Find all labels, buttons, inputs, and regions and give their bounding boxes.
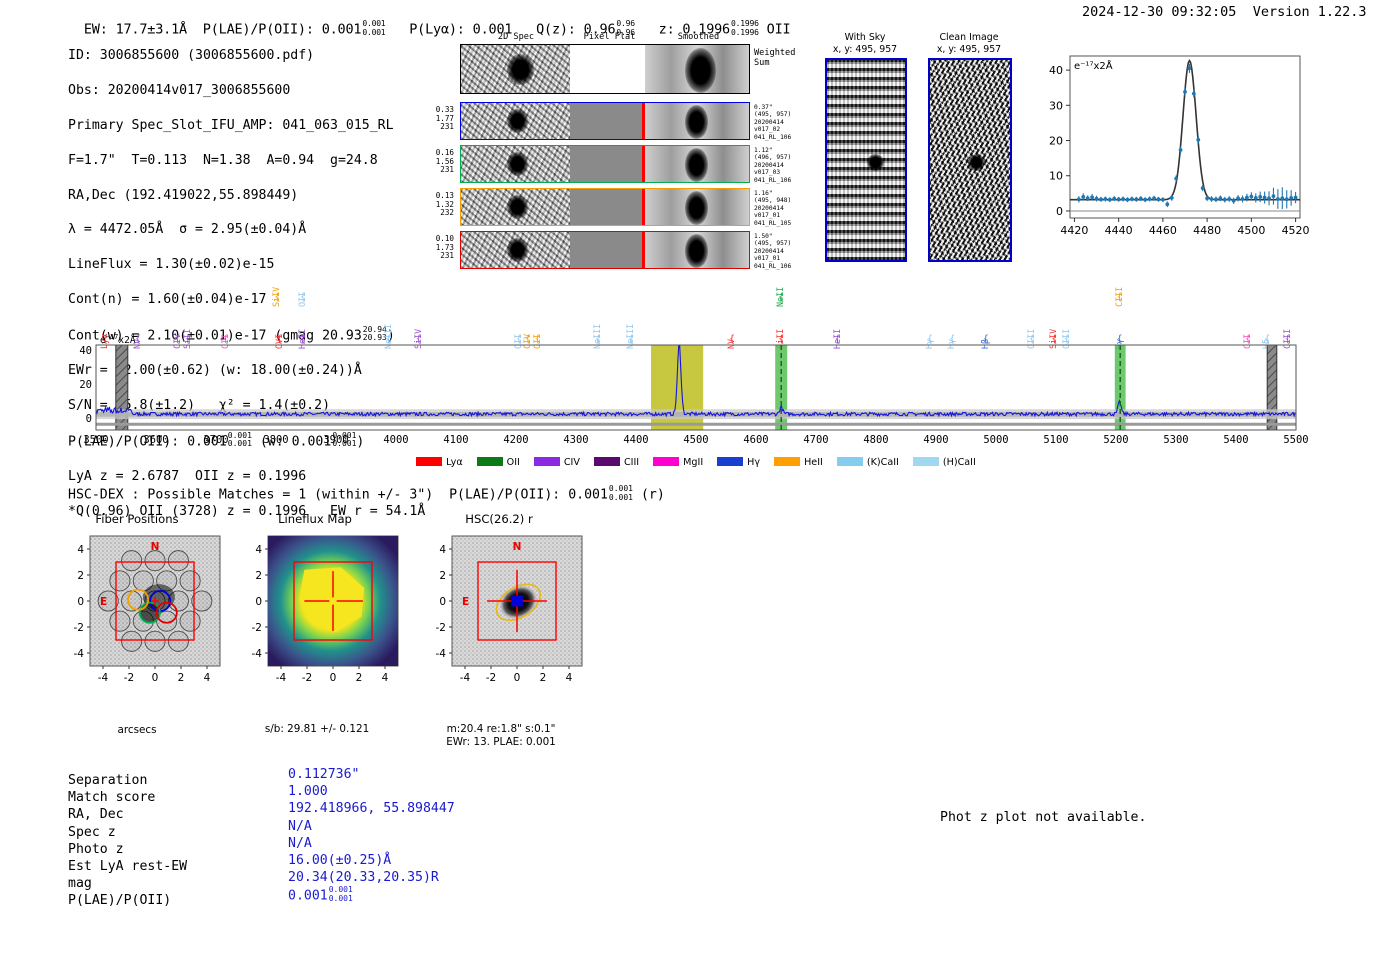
- svg-text:0: 0: [330, 672, 337, 684]
- spectrum-line-brace: {: [416, 336, 422, 344]
- match-table-label: Separation: [68, 772, 187, 789]
- spec2d-cell-pixelflat: [570, 232, 645, 268]
- svg-text:2: 2: [439, 570, 446, 582]
- svg-text:2: 2: [178, 672, 185, 684]
- svg-text:20: 20: [1049, 135, 1063, 148]
- spectrum-xtick: 4400: [616, 434, 656, 446]
- legend-label: Lyα: [446, 457, 462, 468]
- lineflux-map-title: Lineflux Map: [240, 512, 390, 526]
- match-table-value: 20.34(20.33,20.35)R: [288, 869, 455, 886]
- spec2d-cell-pixelflat: [570, 146, 645, 182]
- spec2d-row-fiber-4[interactable]: [460, 231, 750, 269]
- match-table-value: 192.418966, 55.898447: [288, 800, 455, 817]
- spectrum-xtick: 4200: [496, 434, 536, 446]
- spec2d-left-labels: 0.131.32232: [420, 192, 454, 218]
- svg-text:0: 0: [1056, 205, 1063, 218]
- legend-swatch: [477, 457, 503, 466]
- dex-headline: HSC-DEX : Possible Matches = 1 (within +…: [68, 485, 665, 502]
- spectrum-line-brace: {: [1285, 336, 1291, 344]
- spectrum-line-brace: {: [983, 336, 989, 344]
- spectrum-ytick: 20: [70, 379, 92, 391]
- match-table-labels: SeparationMatch scoreRA, DecSpec zPhoto …: [68, 772, 187, 910]
- spectrum-ytick: 40: [70, 345, 92, 357]
- match-table-label: mag: [68, 875, 187, 892]
- legend-label: OII: [507, 457, 520, 468]
- spec2d-cell-2dspec: [461, 45, 570, 93]
- spec2d-cell-smoothed: [645, 146, 749, 182]
- legend-label: Hγ: [747, 457, 760, 468]
- spectrum-line-brace: {: [927, 336, 933, 344]
- header-timestamp-version: 2024-12-30 09:32:05 Version 1.22.3: [1082, 4, 1367, 20]
- spectrum-line-brace: {: [185, 336, 191, 344]
- photoz-note: Phot z plot not available.: [940, 810, 1146, 825]
- spec2d-cell-2dspec: [461, 146, 570, 182]
- legend-label: CIV: [564, 457, 580, 468]
- spec2d-col-title-smoothed: Smoothed: [647, 32, 750, 42]
- spectrum-line-brace: {: [175, 336, 181, 344]
- spectrum-line-brace: {: [535, 336, 541, 344]
- spec2d-row-fiber-3[interactable]: [460, 188, 750, 226]
- legend-item: Lyα: [416, 457, 462, 468]
- match-table-plae-bounds: 0.0010.001: [329, 886, 353, 903]
- spec2d-cell-smoothed: [645, 189, 749, 225]
- svg-text:N: N: [513, 541, 522, 553]
- svg-text:-2: -2: [124, 672, 134, 684]
- spectrum-line-brace: {: [729, 336, 735, 344]
- spec2d-cell-2dspec: [461, 232, 570, 268]
- spectrum-line-brace: {: [274, 294, 280, 302]
- spec2d-cell-2dspec: [461, 103, 570, 139]
- svg-text:4: 4: [566, 672, 573, 684]
- info-line-wavelength: λ = 4472.05Å σ = 2.95(±0.04)Å: [68, 221, 425, 238]
- svg-text:4: 4: [204, 672, 211, 684]
- match-table-values: 0.112736"1.000192.418966, 55.898447N/AN/…: [288, 766, 455, 905]
- svg-text:0: 0: [439, 596, 446, 608]
- spectrum-xtick: 5300: [1156, 434, 1196, 446]
- legend-item: (K)CaII: [837, 457, 899, 468]
- spectrum-xtick: 4100: [436, 434, 476, 446]
- cutout-clean-label: Clean Imagex, y: 495, 957: [920, 32, 1018, 55]
- spectrum-xtick: 4300: [556, 434, 596, 446]
- legend-swatch: [913, 457, 939, 466]
- spectrum-xtick: 5400: [1216, 434, 1256, 446]
- legend-swatch: [837, 457, 863, 466]
- full-spectrum-panel[interactable]: Lyα{NV{CIV{SiII{CII{OVI{HeII{SiIV{OII{Ne…: [96, 345, 1296, 430]
- spectrum-xtick: 5000: [976, 434, 1016, 446]
- legend-label: (K)CaII: [867, 457, 899, 468]
- cutout-clean-image-img[interactable]: [928, 58, 1012, 262]
- spectrum-line-brace: {: [778, 294, 784, 302]
- svg-text:2: 2: [255, 570, 262, 582]
- spec2d-right-labels: 1.16"(495, 948)20200414v017_01041_RL_105: [754, 190, 824, 227]
- lineflux-map-caption: s/b: 29.81 +/- 0.121: [232, 723, 402, 736]
- info-line-lineflux: LineFlux = 1.30(±0.02)e-15: [68, 256, 425, 273]
- svg-text:4480: 4480: [1193, 224, 1221, 237]
- svg-text:2: 2: [77, 570, 84, 582]
- legend-item: OII: [477, 457, 520, 468]
- spectrum-line-brace: {: [1029, 336, 1035, 344]
- spectrum-xtick: 3900: [316, 434, 356, 446]
- spec2d-right-labels: 1.50"(495, 957)20200414v017_01041_RL_106: [754, 233, 824, 270]
- spectrum-line-brace: {: [223, 336, 229, 344]
- svg-text:4440: 4440: [1105, 224, 1133, 237]
- svg-text:0: 0: [152, 672, 159, 684]
- spectrum-xtick: 3600: [136, 434, 176, 446]
- match-table-label: RA, Dec: [68, 806, 187, 823]
- spectrum-line-brace: {: [628, 336, 634, 344]
- svg-text:4: 4: [77, 544, 84, 556]
- spectrum-xtick: 5200: [1096, 434, 1136, 446]
- legend-swatch: [653, 457, 679, 466]
- spectrum-line-brace: {: [1117, 336, 1123, 344]
- legend-label: (H)CaII: [943, 457, 976, 468]
- spec2d-cell-smoothed: [645, 45, 749, 93]
- svg-text:-2: -2: [436, 622, 446, 634]
- spectrum-line-brace: {: [525, 336, 531, 344]
- svg-text:-2: -2: [302, 672, 312, 684]
- spectrum-xtick: 4800: [856, 434, 896, 446]
- svg-text:-4: -4: [436, 648, 447, 660]
- match-table-value: 1.000: [288, 783, 455, 800]
- svg-text:40: 40: [1049, 64, 1063, 77]
- emission-line-plot[interactable]: 010203040442044404460448045004520e⁻¹⁷x2Å: [1030, 42, 1308, 252]
- svg-text:4500: 4500: [1237, 224, 1265, 237]
- fiber-positions-title: Fiber Positions: [62, 512, 212, 526]
- legend-label: CIII: [624, 457, 639, 468]
- spectrum-line-brace: {: [778, 336, 784, 344]
- spectrum-legend: LyαOIICIVCIIIMgIIHγHeII(K)CaII(H)CaII: [96, 457, 1296, 468]
- match-table-value: 0.112736": [288, 766, 455, 783]
- match-table-label: Est LyA rest-EW: [68, 858, 187, 875]
- legend-swatch: [534, 457, 560, 466]
- svg-text:10: 10: [1049, 170, 1063, 183]
- spec2d-cell-smoothed: [645, 103, 749, 139]
- info-line-cont-n: Cont(n) = 1.60(±0.04)e-17: [68, 291, 425, 308]
- legend-label: HeII: [804, 457, 823, 468]
- spec2d-cell-pixelflat: [570, 103, 645, 139]
- spectrum-line-brace: {: [277, 336, 283, 344]
- match-table-value: N/A: [288, 835, 455, 852]
- legend-swatch: [717, 457, 743, 466]
- svg-text:4: 4: [382, 672, 389, 684]
- spec2d-col-title-2dspec: 2D Spec: [460, 32, 572, 42]
- spec2d-cell-pixelflat: [570, 189, 645, 225]
- spectrum-line-brace: {: [1264, 336, 1270, 344]
- spec2d-cell-smoothed: [645, 232, 749, 268]
- info-line-redshifts: LyA z = 2.6787 OII z = 0.1996: [68, 468, 425, 485]
- spec2d-cell-2dspec: [461, 189, 570, 225]
- spectrum-line-brace: {: [386, 336, 392, 344]
- legend-item: Hγ: [717, 457, 760, 468]
- info-line-primary-spec: Primary Spec_Slot_IFU_AMP: 041_063_015_R…: [68, 117, 425, 134]
- legend-item: CIV: [534, 457, 580, 468]
- spectrum-xtick: 3700: [196, 434, 236, 446]
- spectrum-line-brace: {: [300, 336, 306, 344]
- svg-text:2: 2: [540, 672, 547, 684]
- svg-text:-4: -4: [98, 672, 109, 684]
- spectrum-line-brace: {: [1117, 294, 1123, 302]
- spec2d-row-fiber-2[interactable]: [460, 145, 750, 183]
- spectrum-line-brace: {: [949, 336, 955, 344]
- info-line-seeing: F=1.7" T=0.113 N=1.38 A=0.94 g=24.8: [68, 152, 425, 169]
- legend-label: MgII: [683, 457, 703, 468]
- svg-text:2: 2: [356, 672, 363, 684]
- spec2d-left-labels: 0.161.56231: [420, 149, 454, 175]
- svg-text:-2: -2: [74, 622, 84, 634]
- match-table-value: 0.0010.0010.001: [288, 886, 455, 905]
- spec2d-row-fiber-1[interactable]: [460, 102, 750, 140]
- hsc-r-title: HSC(26.2) r: [424, 512, 574, 526]
- svg-text:-2: -2: [252, 622, 262, 634]
- spec2d-row-weighted-sum[interactable]: [460, 44, 750, 94]
- info-line-radec: RA,Dec (192.419022,55.898449): [68, 187, 425, 204]
- legend-swatch: [774, 457, 800, 466]
- legend-item: MgII: [653, 457, 703, 468]
- svg-text:0: 0: [255, 596, 262, 608]
- svg-text:-4: -4: [460, 672, 471, 684]
- spectrum-line-brace: {: [1245, 336, 1251, 344]
- svg-text:4: 4: [255, 544, 262, 556]
- spectrum-flux-annotation: e−17x2Å: [100, 333, 136, 346]
- timestamp: 2024-12-30 09:32:05: [1082, 4, 1236, 20]
- spectrum-xtick: 5500: [1276, 434, 1316, 446]
- dex-plae-bounds: 0.0010.001: [609, 485, 633, 502]
- spectrum-xtick: 4500: [676, 434, 716, 446]
- spec2d-weighted-sum-label: WeightedSum: [754, 48, 795, 68]
- svg-text:E: E: [462, 596, 469, 608]
- spectrum-xtick: 3800: [256, 434, 296, 446]
- info-line-obs: Obs: 20200414v017_3006855600: [68, 82, 425, 99]
- spectrum-line-brace: {: [1051, 336, 1057, 344]
- svg-text:4460: 4460: [1149, 224, 1177, 237]
- fiber-positions-xlabel: arcsecs: [62, 724, 212, 736]
- match-table-value: N/A: [288, 818, 455, 835]
- legend-swatch: [416, 457, 442, 466]
- version: Version 1.22.3: [1253, 4, 1367, 20]
- svg-text:0: 0: [514, 672, 521, 684]
- match-table-label: Spec z: [68, 824, 187, 841]
- spectrum-xtick: 4600: [736, 434, 776, 446]
- match-table-label: P(LAE)/P(OII): [68, 892, 187, 909]
- spectrum-ytick: 0: [70, 413, 92, 425]
- spec2d-panel-group: 2D Spec Pixel Flat Smoothed WeightedSum …: [420, 32, 820, 257]
- spectrum-line-brace: {: [1064, 336, 1070, 344]
- svg-text:4420: 4420: [1060, 224, 1088, 237]
- svg-text:0: 0: [77, 596, 84, 608]
- spectrum-xtick: 5100: [1036, 434, 1076, 446]
- spectrum-xtick: 4900: [916, 434, 956, 446]
- legend-item: CIII: [594, 457, 639, 468]
- info-line-id: ID: 3006855600 (3006855600.pdf): [68, 47, 425, 64]
- hsc-r-caption: m:20.4 re:1.8" s:0.1" EWr: 13. PLAE: 0.0…: [412, 723, 590, 748]
- spectrum-line-brace: {: [300, 294, 306, 302]
- spec2d-left-labels: 0.331.77231: [420, 106, 454, 132]
- spec2d-col-title-pixelflat: Pixel Flat: [572, 32, 647, 42]
- svg-text:-4: -4: [276, 672, 287, 684]
- spectrum-line-brace: {: [835, 336, 841, 344]
- spectrum-line-brace: {: [595, 336, 601, 344]
- legend-item: HeII: [774, 457, 823, 468]
- spectrum-xtick: 3500: [76, 434, 116, 446]
- match-table-label: Match score: [68, 789, 187, 806]
- info-line-plae: P(LAE)/P(OII): 0.0010.0010.001 (w: 0.001…: [68, 432, 425, 451]
- spectrum-xtick: 4700: [796, 434, 836, 446]
- legend-item: (H)CaII: [913, 457, 976, 468]
- spec2d-right-labels: 1.12"(496, 957)20200414v017_03041_RL_106: [754, 147, 824, 184]
- svg-text:-4: -4: [74, 648, 85, 660]
- cutout-with-sky-label: With Skyx, y: 495, 957: [820, 32, 910, 55]
- spec2d-left-labels: 0.101.73231: [420, 235, 454, 261]
- svg-text:30: 30: [1049, 99, 1063, 112]
- svg-text:4: 4: [439, 544, 446, 556]
- spectrum-xtick: 4000: [376, 434, 416, 446]
- match-table-value: 16.00(±0.25)Å: [288, 852, 455, 869]
- spec2d-right-labels: 0.37"(495, 957)20200414v017_02041_RL_106: [754, 104, 824, 141]
- svg-text:-4: -4: [252, 648, 263, 660]
- svg-text:-2: -2: [486, 672, 496, 684]
- spec2d-cell-pixelflat: [570, 45, 645, 93]
- match-table-label: Photo z: [68, 841, 187, 858]
- cutout-with-sky-image[interactable]: [825, 58, 907, 262]
- svg-text:e⁻¹⁷x2Å: e⁻¹⁷x2Å: [1074, 59, 1113, 72]
- legend-swatch: [594, 457, 620, 466]
- svg-text:4520: 4520: [1282, 224, 1310, 237]
